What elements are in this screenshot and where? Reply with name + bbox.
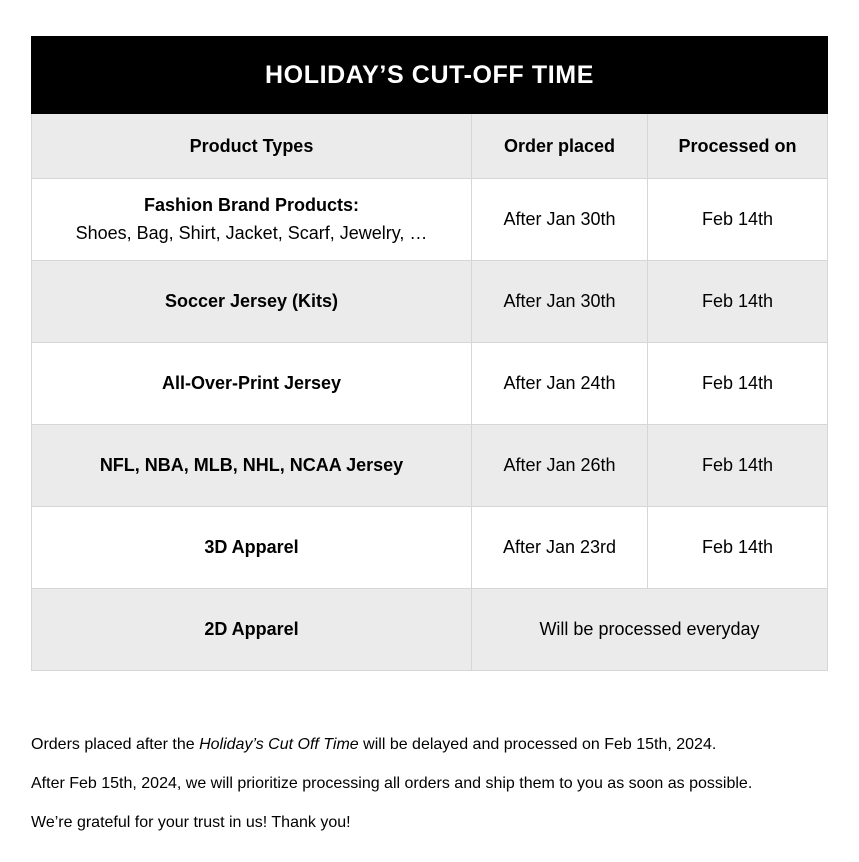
cell-processed-on: Feb 14th [648,179,828,261]
cell-processed-on: Feb 14th [648,261,828,343]
note-1-before: Orders placed after the [31,736,199,753]
product-title: Fashion Brand Products: [144,195,359,215]
table-head: HOLIDAY’S CUT-OFF TIME Product Types Ord… [32,37,828,179]
cell-order-placed: After Jan 30th [472,261,648,343]
column-header-order-placed: Order placed [472,114,648,179]
footer-note-line-2: After Feb 15th, 2024, we will prioritize… [31,776,841,792]
cell-product-type: 2D Apparel [32,589,472,671]
table-column-header-row: Product Types Order placed Processed on [32,114,828,179]
footer-notes: Orders placed after the Holiday’s Cut Of… [31,737,841,854]
note-1-after: will be delayed and processed on Feb 15t… [359,736,717,753]
cell-product-type: Fashion Brand Products: Shoes, Bag, Shir… [32,179,472,261]
cell-processed-on: Feb 14th [648,343,828,425]
table-row: Fashion Brand Products: Shoes, Bag, Shir… [32,179,828,261]
cell-processed-on: Feb 14th [648,425,828,507]
table-title-row: HOLIDAY’S CUT-OFF TIME [32,37,828,114]
page-root: HOLIDAY’S CUT-OFF TIME Product Types Ord… [0,0,859,862]
cell-merged-processing-note: Will be processed everyday [472,589,828,671]
table-row: All-Over-Print Jersey After Jan 24th Feb… [32,343,828,425]
column-header-processed-on: Processed on [648,114,828,179]
cell-order-placed: After Jan 23rd [472,507,648,589]
cell-product-type: All-Over-Print Jersey [32,343,472,425]
cell-processed-on: Feb 14th [648,507,828,589]
table-title: HOLIDAY’S CUT-OFF TIME [32,37,828,114]
cell-product-type: NFL, NBA, MLB, NHL, NCAA Jersey [32,425,472,507]
cell-product-type: 3D Apparel [32,507,472,589]
footer-note-line-3: We’re grateful for your trust in us! Tha… [31,815,841,831]
table-row: Soccer Jersey (Kits) After Jan 30th Feb … [32,261,828,343]
table-row: 2D Apparel Will be processed everyday [32,589,828,671]
product-subtitle: Shoes, Bag, Shirt, Jacket, Scarf, Jewelr… [32,220,471,248]
column-header-product-types: Product Types [32,114,472,179]
table-row: NFL, NBA, MLB, NHL, NCAA Jersey After Ja… [32,425,828,507]
cell-order-placed: After Jan 26th [472,425,648,507]
table-row: 3D Apparel After Jan 23rd Feb 14th [32,507,828,589]
cell-order-placed: After Jan 30th [472,179,648,261]
cell-product-type: Soccer Jersey (Kits) [32,261,472,343]
table-body: Fashion Brand Products: Shoes, Bag, Shir… [32,179,828,671]
note-1-emphasis: Holiday’s Cut Off Time [199,736,359,753]
footer-note-line-1: Orders placed after the Holiday’s Cut Of… [31,737,841,753]
holiday-cutoff-table: HOLIDAY’S CUT-OFF TIME Product Types Ord… [31,36,828,671]
cell-order-placed: After Jan 24th [472,343,648,425]
